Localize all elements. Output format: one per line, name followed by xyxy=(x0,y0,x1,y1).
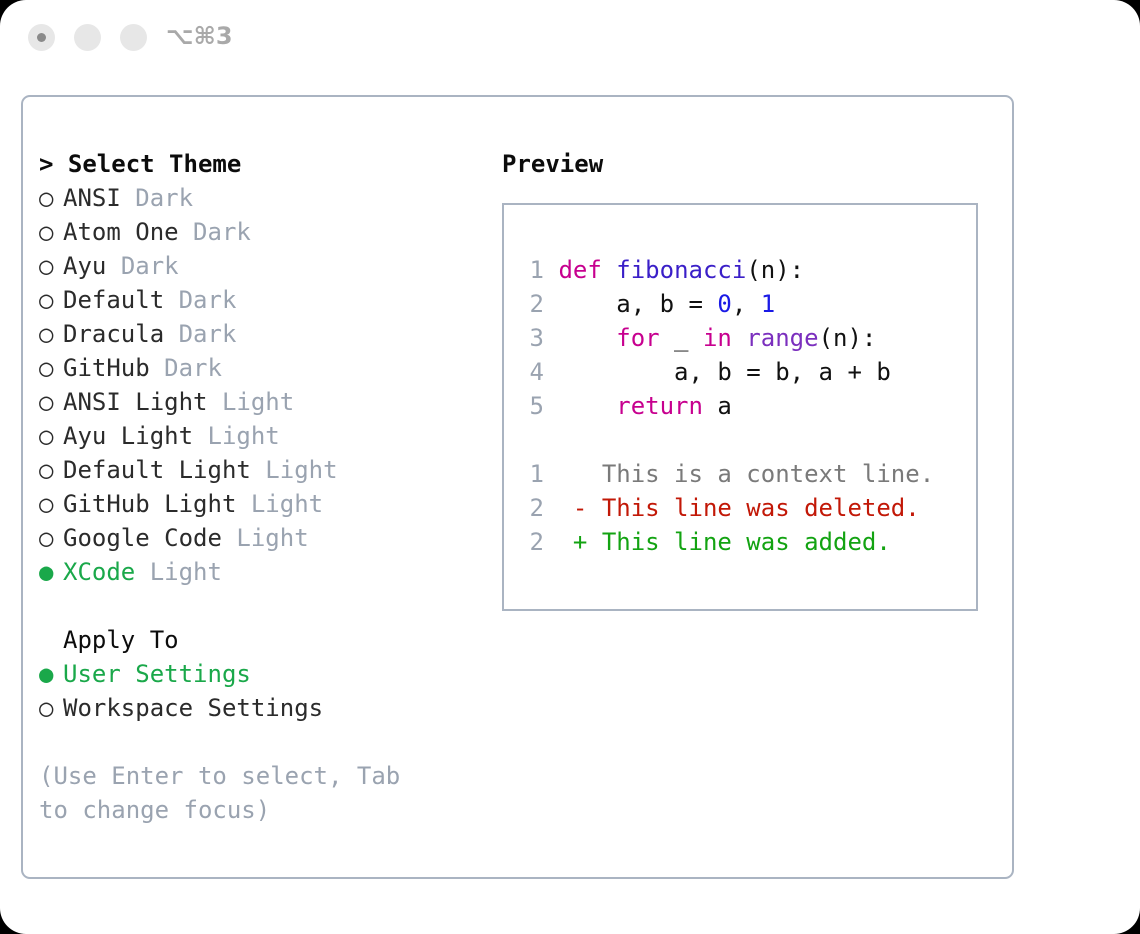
code-token: a xyxy=(703,392,732,420)
theme-list: ○ ANSI Dark○ Atom One Dark○ Ayu Dark○ De… xyxy=(39,181,479,589)
diff-line: 1 This is a context line. xyxy=(516,457,966,491)
code-token: (n): xyxy=(819,324,877,352)
keyboard-shortcut-label: ⌥⌘3 xyxy=(166,22,233,50)
code-token: return xyxy=(616,392,703,420)
gutter-gap xyxy=(544,392,558,420)
code-line-number: 3 xyxy=(516,321,544,355)
theme-option-tag: Light xyxy=(236,524,308,552)
apply-to-options: ● User Settings○ Workspace Settings xyxy=(39,657,479,725)
theme-option-xcode[interactable]: ● XCode Light xyxy=(39,555,479,589)
theme-option-label: XCode xyxy=(63,558,135,586)
preview-box: 1 def fibonacci(n):2 a, b = 0, 13 for _ … xyxy=(502,203,978,611)
traffic-light-3[interactable] xyxy=(120,24,147,51)
spacer xyxy=(164,320,178,348)
apply-to-option-label: Workspace Settings xyxy=(63,694,323,722)
code-line: 2 a, b = 0, 1 xyxy=(516,287,966,321)
gutter-gap xyxy=(544,256,558,284)
preview-heading: Preview xyxy=(502,147,982,181)
theme-option-tag: Light xyxy=(150,558,222,586)
spacer xyxy=(135,558,149,586)
code-token: , xyxy=(732,290,761,318)
diff-line: 2 + This line was added. xyxy=(516,525,966,559)
radio-unselected-icon: ○ xyxy=(39,419,63,453)
diff-sample: 1 This is a context line.2 - This line w… xyxy=(516,457,966,559)
preview-column: Preview 1 def fibonacci(n):2 a, b = 0, 1… xyxy=(502,147,982,611)
gutter-gap xyxy=(544,460,573,488)
code-token: a, b = xyxy=(558,290,717,318)
theme-option-tag: Light xyxy=(208,422,280,450)
apply-to-heading: Apply To xyxy=(39,623,479,657)
theme-option-tag: Dark xyxy=(135,184,193,212)
theme-option-ansi[interactable]: ○ ANSI Dark xyxy=(39,181,479,215)
traffic-lights xyxy=(28,24,147,51)
theme-option-dracula[interactable]: ○ Dracula Dark xyxy=(39,317,479,351)
code-token: for xyxy=(616,324,659,352)
select-theme-heading: > Select Theme xyxy=(39,147,479,181)
code-line-number: 5 xyxy=(516,389,544,423)
theme-list-column: > Select Theme ○ ANSI Dark○ Atom One Dar… xyxy=(39,147,479,827)
radio-unselected-icon: ○ xyxy=(39,249,63,283)
theme-option-tag: Light xyxy=(265,456,337,484)
spacer xyxy=(121,184,135,212)
apply-to-option-user-settings[interactable]: ● User Settings xyxy=(39,657,479,691)
radio-unselected-icon: ○ xyxy=(39,691,63,725)
code-token xyxy=(558,324,616,352)
code-line-number: 1 xyxy=(516,253,544,287)
traffic-light-2[interactable] xyxy=(74,24,101,51)
theme-option-label: Default xyxy=(63,286,164,314)
theme-option-tag: Dark xyxy=(193,218,251,246)
diff-line-number: 2 xyxy=(516,525,544,559)
theme-option-google-code[interactable]: ○ Google Code Light xyxy=(39,521,479,555)
screenshot-frame: ⌥⌘3 > Select Theme ○ ANSI Dark○ Atom One… xyxy=(0,0,1140,934)
keyboard-hint-text: (Use Enter to select, Tab to change focu… xyxy=(39,759,439,827)
code-line: 1 def fibonacci(n): xyxy=(516,253,966,287)
theme-option-tag: Dark xyxy=(179,320,237,348)
spacer xyxy=(106,252,120,280)
code-token: 0 xyxy=(717,290,731,318)
theme-option-label: Dracula xyxy=(63,320,164,348)
radio-unselected-icon: ○ xyxy=(39,351,63,385)
theme-option-label: ANSI Light xyxy=(63,388,208,416)
radio-unselected-icon: ○ xyxy=(39,385,63,419)
theme-option-label: Atom One xyxy=(63,218,179,246)
code-token xyxy=(558,392,616,420)
code-line-number: 4 xyxy=(516,355,544,389)
code-token: in xyxy=(703,324,732,352)
window-titlebar: ⌥⌘3 xyxy=(0,0,1140,78)
theme-option-tag: Dark xyxy=(121,252,179,280)
code-line: 3 for _ in range(n): xyxy=(516,321,966,355)
radio-selected-icon: ● xyxy=(39,555,63,589)
radio-unselected-icon: ○ xyxy=(39,317,63,351)
diff-text: This line was added. xyxy=(602,528,891,556)
code-line-number: 2 xyxy=(516,287,544,321)
diff-line-number: 2 xyxy=(516,491,544,525)
diff-marker: + xyxy=(573,528,602,556)
theme-option-ansi-light[interactable]: ○ ANSI Light Light xyxy=(39,385,479,419)
code-diff-spacer xyxy=(516,423,966,457)
gutter-gap xyxy=(544,358,558,386)
code-token: 1 xyxy=(761,290,775,318)
code-line: 5 return a xyxy=(516,389,966,423)
spacer xyxy=(222,524,236,552)
diff-line-number: 1 xyxy=(516,457,544,491)
theme-option-atom-one[interactable]: ○ Atom One Dark xyxy=(39,215,479,249)
radio-unselected-icon: ○ xyxy=(39,283,63,317)
apply-to-section: Apply To ● User Settings○ Workspace Sett… xyxy=(39,623,479,725)
spacer xyxy=(251,456,265,484)
theme-option-github[interactable]: ○ GitHub Dark xyxy=(39,351,479,385)
theme-option-default[interactable]: ○ Default Dark xyxy=(39,283,479,317)
code-token: fibonacci xyxy=(616,256,746,284)
theme-option-label: Default Light xyxy=(63,456,251,484)
code-line: 4 a, b = b, a + b xyxy=(516,355,966,389)
theme-option-tag: Light xyxy=(251,490,323,518)
spacer xyxy=(208,388,222,416)
radio-unselected-icon: ○ xyxy=(39,453,63,487)
theme-option-tag: Light xyxy=(222,388,294,416)
theme-option-label: Ayu Light xyxy=(63,422,193,450)
code-token: ( xyxy=(746,256,760,284)
traffic-light-1-dot xyxy=(37,33,46,42)
theme-selector-panel: > Select Theme ○ ANSI Dark○ Atom One Dar… xyxy=(21,95,1014,879)
diff-text: This is a context line. xyxy=(602,460,934,488)
code-token xyxy=(602,256,616,284)
code-token: n xyxy=(761,256,775,284)
theme-option-label: ANSI xyxy=(63,184,121,212)
gutter-gap xyxy=(544,528,573,556)
code-token: a, b = b, a + b xyxy=(558,358,890,386)
gutter-gap xyxy=(544,494,573,522)
theme-option-label: GitHub Light xyxy=(63,490,236,518)
theme-option-ayu[interactable]: ○ Ayu Dark xyxy=(39,249,479,283)
traffic-light-1[interactable] xyxy=(28,24,55,51)
theme-option-tag: Dark xyxy=(179,286,237,314)
spacer xyxy=(193,422,207,450)
code-token: _ xyxy=(660,324,703,352)
code-token xyxy=(732,324,746,352)
diff-marker: - xyxy=(573,494,602,522)
preview-code-area: 1 def fibonacci(n):2 a, b = 0, 13 for _ … xyxy=(516,253,966,559)
theme-option-label: Ayu xyxy=(63,252,106,280)
code-token: def xyxy=(558,256,601,284)
radio-unselected-icon: ○ xyxy=(39,487,63,521)
spacer xyxy=(164,286,178,314)
theme-option-default-light[interactable]: ○ Default Light Light xyxy=(39,453,479,487)
radio-unselected-icon: ○ xyxy=(39,181,63,215)
code-token: ): xyxy=(775,256,804,284)
theme-option-github-light[interactable]: ○ GitHub Light Light xyxy=(39,487,479,521)
diff-line: 2 - This line was deleted. xyxy=(516,491,966,525)
code-token: range xyxy=(746,324,818,352)
gutter-gap xyxy=(544,290,558,318)
theme-option-ayu-light[interactable]: ○ Ayu Light Light xyxy=(39,419,479,453)
spacer xyxy=(150,354,164,382)
theme-option-label: Google Code xyxy=(63,524,222,552)
spacer xyxy=(179,218,193,246)
diff-text: This line was deleted. xyxy=(602,494,920,522)
theme-option-tag: Dark xyxy=(164,354,222,382)
apply-to-option-label: User Settings xyxy=(63,660,251,688)
radio-selected-icon: ● xyxy=(39,657,63,691)
theme-option-label: GitHub xyxy=(63,354,150,382)
gutter-gap xyxy=(544,324,558,352)
diff-marker xyxy=(573,460,602,488)
radio-unselected-icon: ○ xyxy=(39,521,63,555)
radio-unselected-icon: ○ xyxy=(39,215,63,249)
apply-to-option-workspace-settings[interactable]: ○ Workspace Settings xyxy=(39,691,479,725)
code-sample: 1 def fibonacci(n):2 a, b = 0, 13 for _ … xyxy=(516,253,966,423)
spacer xyxy=(236,490,250,518)
